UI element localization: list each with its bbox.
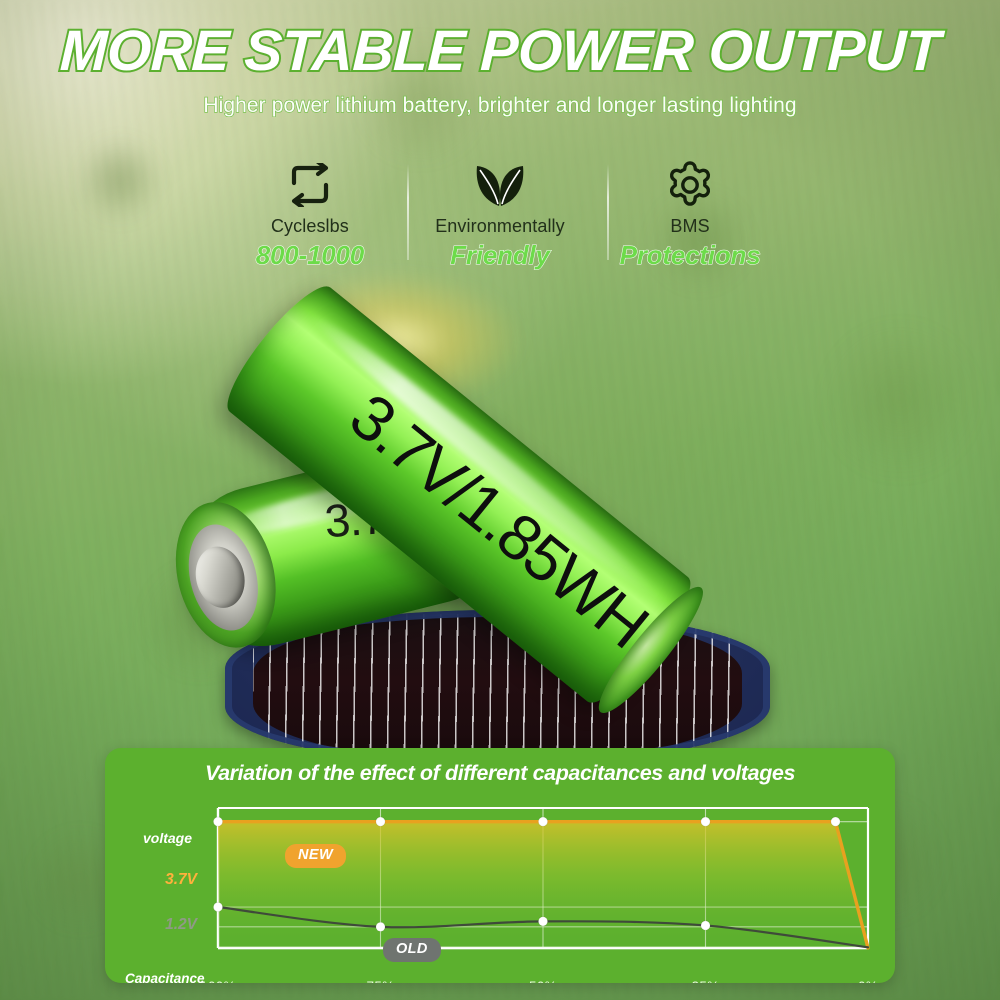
page-title: MORE STABLE POWER OUTPUT bbox=[0, 22, 1000, 80]
header: MORE STABLE POWER OUTPUT Higher power li… bbox=[0, 22, 1000, 118]
chart-series bbox=[218, 822, 868, 948]
chart-svg bbox=[105, 786, 895, 971]
x-tick-label: 0% bbox=[858, 979, 878, 983]
chart-plot-area: voltage Capacitance 3.7V 1.2V NEW OLD bbox=[105, 786, 895, 971]
product-photo: 3.7V/1 3.7V/1.85WH bbox=[0, 255, 1000, 775]
x-tick-label: 50% bbox=[529, 979, 557, 983]
new-series-badge: NEW bbox=[285, 844, 346, 868]
x-axis-title: Capacitance bbox=[125, 971, 205, 983]
page-subtitle: Higher power lithium battery, brighter a… bbox=[0, 94, 1000, 118]
y-tick-1-2v: 1.2V bbox=[137, 916, 197, 934]
cycle-arrows-icon bbox=[215, 160, 405, 210]
promo-image-root: MORE STABLE POWER OUTPUT Higher power li… bbox=[0, 0, 1000, 1000]
x-tick-label: 100% bbox=[200, 979, 236, 983]
x-tick-label: 25% bbox=[692, 979, 720, 983]
y-axis-title: voltage bbox=[143, 830, 192, 846]
feature-top-label: BMS bbox=[595, 216, 785, 237]
chart-panel: Variation of the effect of different cap… bbox=[105, 748, 895, 983]
feature-top-label: Cycleslbs bbox=[215, 216, 405, 237]
leaves-icon bbox=[405, 160, 595, 210]
old-series-badge: OLD bbox=[383, 938, 441, 962]
feature-top-label: Environmentally bbox=[405, 216, 595, 237]
y-tick-3-7v: 3.7V bbox=[137, 871, 197, 889]
gear-icon bbox=[595, 160, 785, 210]
chart-title: Variation of the effect of different cap… bbox=[105, 761, 895, 786]
x-tick-label: 75% bbox=[367, 979, 395, 983]
